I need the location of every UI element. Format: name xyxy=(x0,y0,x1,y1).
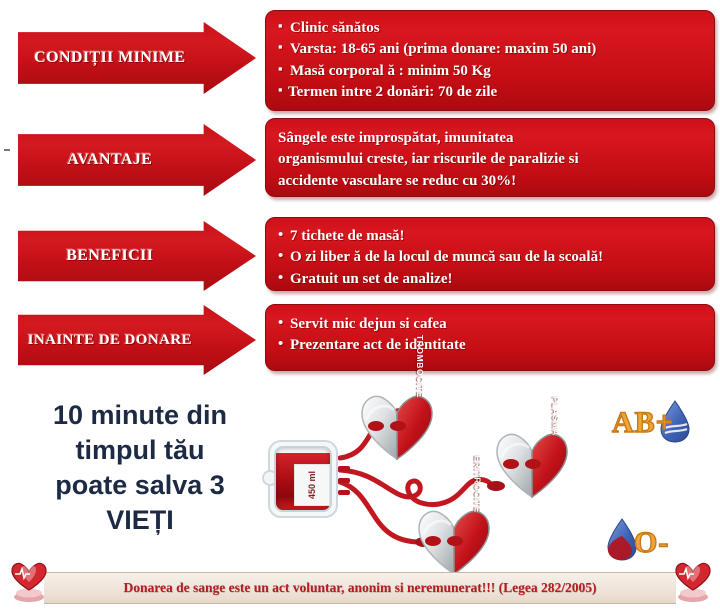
component-heart-plasma: PLASMA xyxy=(493,428,571,500)
legal-banner-text: Donarea de sange este un act voluntar, a… xyxy=(124,580,597,596)
arrow-avantaje: AVANTAJE xyxy=(18,124,256,196)
legal-banner: Donarea de sange este un act voluntar, a… xyxy=(44,572,676,604)
content-box-conditii-minime: Clinic sănătos Varsta: 18-65 ani (prima … xyxy=(265,10,715,111)
blood-bag-port-bottom xyxy=(338,490,350,495)
blood-bag: 450 ml xyxy=(266,440,342,520)
infographic-canvas: CONDIȚII MINIME Clinic sănătos Varsta: 1… xyxy=(0,0,720,610)
arrow-conditii-minime: CONDIȚII MINIME xyxy=(18,22,256,94)
blood-type-label-o-negative: O- xyxy=(634,526,669,560)
blood-bag-volume: 450 ml xyxy=(307,471,317,499)
list-item: Masă corporal ă : minim 50 Kg xyxy=(278,61,704,82)
arrow-label-avantaje: AVANTAJE xyxy=(18,151,204,169)
heart-shape xyxy=(415,505,493,577)
list-item: Gratuit un set de analize! xyxy=(278,269,704,290)
arrow-label-conditii-minime: CONDIȚII MINIME xyxy=(18,49,204,67)
heart-shape xyxy=(493,428,571,500)
list-item: Prezentare act de identitate xyxy=(278,335,704,356)
blood-bag-body: 450 ml xyxy=(274,446,332,512)
component-label-trombocite: TROMBOCITE xyxy=(415,335,425,398)
slogan-block: 10 minute din timpul tău poate salva 3 V… xyxy=(20,398,260,538)
arrow-inainte-de-donare: INAINTE DE DONARE xyxy=(18,305,256,375)
blood-bag-port-mid xyxy=(338,478,350,483)
list-item: 7 tichete de masă! xyxy=(278,226,704,247)
component-label-eritrocite: ERITROCITE xyxy=(472,456,482,513)
list-item: Servit mic dejun si cafea xyxy=(278,314,704,335)
list-item: O zi liber ă de la locul de muncă sau de… xyxy=(278,247,704,268)
list-item: Varsta: 18-65 ani (prima donare: maxim 5… xyxy=(278,39,704,60)
text-line: accidente vasculare se reduc cu 30%! xyxy=(278,171,704,192)
arrow-label-beneficii: BENEFICII xyxy=(18,247,204,265)
text-line: organismului creste, iar riscurile de pa… xyxy=(278,149,704,170)
arrow-label-inainte-de-donare: INAINTE DE DONARE xyxy=(18,332,204,349)
heart-shape xyxy=(358,390,436,462)
stray-mark xyxy=(4,149,10,151)
blood-type-ab-positive: AB+ xyxy=(612,400,702,450)
text-block-avantaje: Sângele este improspătat, imunitatea org… xyxy=(278,128,704,192)
heart-pulse-icon-right xyxy=(670,558,716,604)
heart-pulse-icon-left xyxy=(6,558,52,604)
list-item: Clinic sănătos xyxy=(278,18,704,39)
content-box-avantaje: Sângele este improspătat, imunitatea org… xyxy=(265,118,715,197)
slogan-line-4: VIEȚI xyxy=(20,503,260,538)
component-label-plasma: PLASMA xyxy=(550,397,560,437)
blood-bag-label: 450 ml xyxy=(294,464,330,506)
component-heart-trombocite: TROMBOCITE xyxy=(358,390,436,462)
bullet-list-beneficii: 7 tichete de masă! O zi liber ă de la lo… xyxy=(278,226,704,290)
arrow-beneficii: BENEFICII xyxy=(18,221,256,291)
slogan-line-1: 10 minute din xyxy=(20,398,260,433)
content-box-inainte-de-donare: Servit mic dejun si cafea Prezentare act… xyxy=(265,304,715,371)
bullet-list-conditii-minime: Clinic sănătos Varsta: 18-65 ani (prima … xyxy=(278,18,704,103)
bullet-list-inainte-de-donare: Servit mic dejun si cafea Prezentare act… xyxy=(278,314,704,357)
text-line: Sângele este improspătat, imunitatea xyxy=(278,128,704,149)
list-item: Termen intre 2 donări: 70 de zile xyxy=(278,82,704,103)
slogan-line-3: poate salva 3 xyxy=(20,468,260,503)
component-heart-eritrocite: ERITROCITE xyxy=(415,505,493,577)
blood-type-label-ab-positive: AB+ xyxy=(612,406,674,440)
blood-bag-port-top xyxy=(338,466,350,471)
slogan-line-2: timpul tău xyxy=(20,433,260,468)
content-box-beneficii: 7 tichete de masă! O zi liber ă de la lo… xyxy=(265,217,715,291)
